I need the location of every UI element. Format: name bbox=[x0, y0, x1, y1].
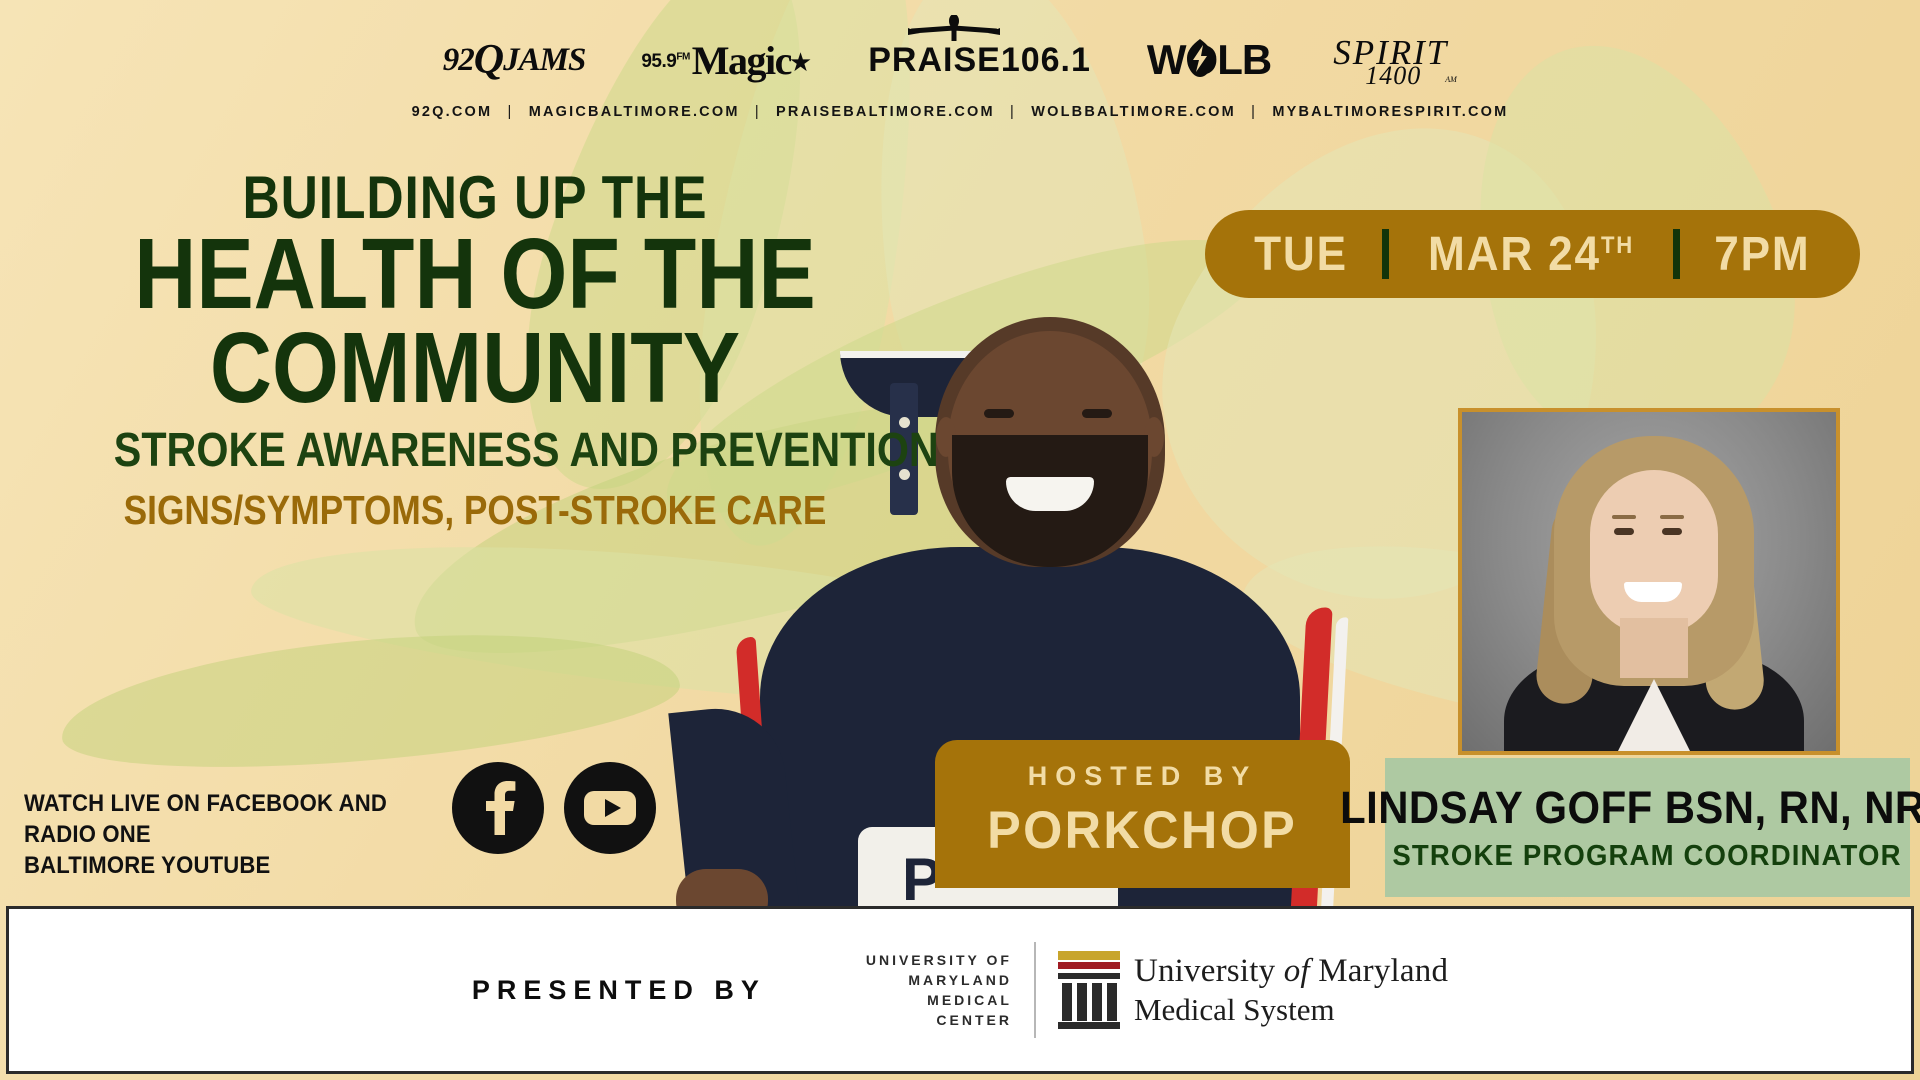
headline-line-3: COMMUNITY bbox=[114, 320, 836, 416]
leaf-shape bbox=[56, 613, 684, 787]
headline-block: BUILDING UP THE HEALTH OF THE COMMUNITY … bbox=[55, 168, 895, 538]
headshot-brow bbox=[1660, 515, 1684, 519]
badge-divider bbox=[1382, 229, 1389, 279]
station-url: 92Q.COM bbox=[412, 104, 493, 120]
station-url: PRAISEBALTIMORE.COM bbox=[776, 104, 995, 120]
umms-word: University bbox=[1134, 953, 1275, 989]
badge-divider bbox=[1673, 229, 1680, 279]
headline-subtitle: STROKE AWARENESS AND PREVENTION bbox=[114, 420, 836, 482]
url-separator: | bbox=[1242, 104, 1266, 120]
logo-text: JAMS bbox=[503, 42, 585, 79]
praise-figure-icon bbox=[906, 15, 1002, 41]
sponsor-logos: UNIVERSITY OF MARYLAND MEDICAL CENTER bbox=[866, 942, 1448, 1038]
event-day: TUE bbox=[1254, 227, 1348, 282]
station-logo-bar: 92QJAMS 95.9FM Magic ★ PRAISE106.1 WOLB bbox=[0, 0, 1920, 140]
headshot-neck bbox=[1620, 618, 1688, 678]
url-separator: | bbox=[746, 104, 770, 120]
logo-text: 95.9FM bbox=[641, 51, 689, 73]
speaker-headshot bbox=[1458, 408, 1840, 755]
speaker-card: LINDSAY GOFF BSN, RN, NRP STROKE PROGRAM… bbox=[1385, 758, 1910, 897]
umms-medical-center-logo: UNIVERSITY OF MARYLAND MEDICAL CENTER bbox=[866, 950, 1012, 1030]
logo-text: Magic bbox=[692, 37, 791, 84]
umms-line-2: Medical System bbox=[1134, 992, 1448, 1028]
headshot-eye bbox=[1662, 528, 1682, 535]
host-eye bbox=[1082, 409, 1112, 418]
station-url: MAGICBALTIMORE.COM bbox=[529, 104, 740, 120]
headline-tagline: SIGNS/SYMPTOMS, POST-STROKE CARE bbox=[114, 482, 836, 538]
url-separator: | bbox=[1001, 104, 1025, 120]
umms-word: of bbox=[1284, 953, 1310, 989]
station-url: MYBALTIMORESPIRIT.COM bbox=[1272, 104, 1508, 120]
hosted-by-label: HOSTED BY bbox=[1028, 761, 1258, 792]
watch-live-line-1: WATCH LIVE ON FACEBOOK AND RADIO ONE bbox=[24, 788, 410, 850]
headshot-face bbox=[1590, 470, 1718, 634]
star-icon: ★ bbox=[789, 47, 812, 78]
lightning-bolt-icon bbox=[1187, 39, 1213, 77]
station-url-list: 92Q.COM | MAGICBALTIMORE.COM | PRAISEBAL… bbox=[412, 104, 1509, 120]
event-date-suffix: TH bbox=[1601, 232, 1634, 259]
university-of-maryland-medical-system-logo: University of Maryland Medical System bbox=[1058, 951, 1448, 1029]
logo-superscript: FM bbox=[676, 51, 689, 62]
host-name: PORKCHOP bbox=[988, 800, 1298, 861]
watch-live-text: WATCH LIVE ON FACEBOOK AND RADIO ONE BAL… bbox=[24, 788, 410, 881]
umc-line-3: MEDICAL bbox=[866, 990, 1012, 1010]
wolb-logo: WOLB bbox=[1147, 36, 1271, 84]
station-url: WOLBBALTIMORE.COM bbox=[1031, 104, 1236, 120]
umc-line-1: UNIVERSITY OF bbox=[866, 950, 1012, 970]
umms-wordmark: University of Maryland Medical System bbox=[1134, 953, 1448, 1028]
umc-line-4: CENTER bbox=[866, 1010, 1012, 1030]
headline-line-2: HEALTH OF THE bbox=[114, 228, 836, 320]
url-separator: | bbox=[499, 104, 523, 120]
logo-text: AM bbox=[1445, 75, 1457, 84]
spirit-1400-logo: SPIRIT 1400 AM bbox=[1327, 31, 1477, 89]
logo-text: 95.9 bbox=[641, 51, 676, 72]
poster-canvas: 92QJAMS 95.9FM Magic ★ PRAISE106.1 WOLB bbox=[0, 0, 1920, 1080]
headshot-brow bbox=[1612, 515, 1636, 519]
logo-text: Q bbox=[474, 36, 503, 84]
social-icons bbox=[452, 762, 656, 854]
headshot-smile bbox=[1624, 582, 1682, 602]
logo-text: PRAISE106.1 bbox=[868, 41, 1091, 80]
92q-jams-logo: 92QJAMS bbox=[443, 36, 586, 84]
presented-by-label: PRESENTED BY bbox=[472, 975, 766, 1006]
station-logos: 92QJAMS 95.9FM Magic ★ PRAISE106.1 WOLB bbox=[443, 28, 1477, 92]
footer-bar: PRESENTED BY UNIVERSITY OF MARYLAND MEDI… bbox=[6, 906, 1914, 1074]
facebook-icon bbox=[478, 781, 518, 835]
event-date-text: MAR 24 bbox=[1428, 228, 1601, 281]
host-smile bbox=[1006, 477, 1094, 511]
hosted-by-card: HOSTED BY PORKCHOP bbox=[935, 740, 1350, 888]
umms-pillars-icon bbox=[1058, 951, 1120, 1029]
logo-text: 1400 bbox=[1365, 61, 1421, 91]
praise-1061-logo: PRAISE106.1 bbox=[868, 41, 1091, 80]
event-date: MAR 24TH bbox=[1428, 227, 1634, 282]
facebook-button[interactable] bbox=[452, 762, 544, 854]
logo-divider bbox=[1034, 942, 1036, 1038]
watch-live-line-2: BALTIMORE YOUTUBE bbox=[24, 850, 410, 881]
headshot-eye bbox=[1614, 528, 1634, 535]
host-eye bbox=[984, 409, 1014, 418]
speaker-name: LINDSAY GOFF BSN, RN, NRP bbox=[1341, 782, 1920, 834]
event-time: 7PM bbox=[1714, 227, 1810, 282]
youtube-button[interactable] bbox=[564, 762, 656, 854]
event-date-badge: TUE MAR 24TH 7PM bbox=[1205, 210, 1860, 298]
magic-959-logo: 95.9FM Magic ★ bbox=[641, 37, 812, 84]
umms-word: Maryland bbox=[1318, 953, 1448, 989]
speaker-role: STROKE PROGRAM COORDINATOR bbox=[1393, 840, 1902, 873]
logo-text: 92 bbox=[443, 42, 474, 79]
umms-line-1: University of Maryland bbox=[1134, 953, 1448, 990]
umc-line-2: MARYLAND bbox=[866, 970, 1012, 990]
youtube-icon bbox=[583, 788, 637, 828]
